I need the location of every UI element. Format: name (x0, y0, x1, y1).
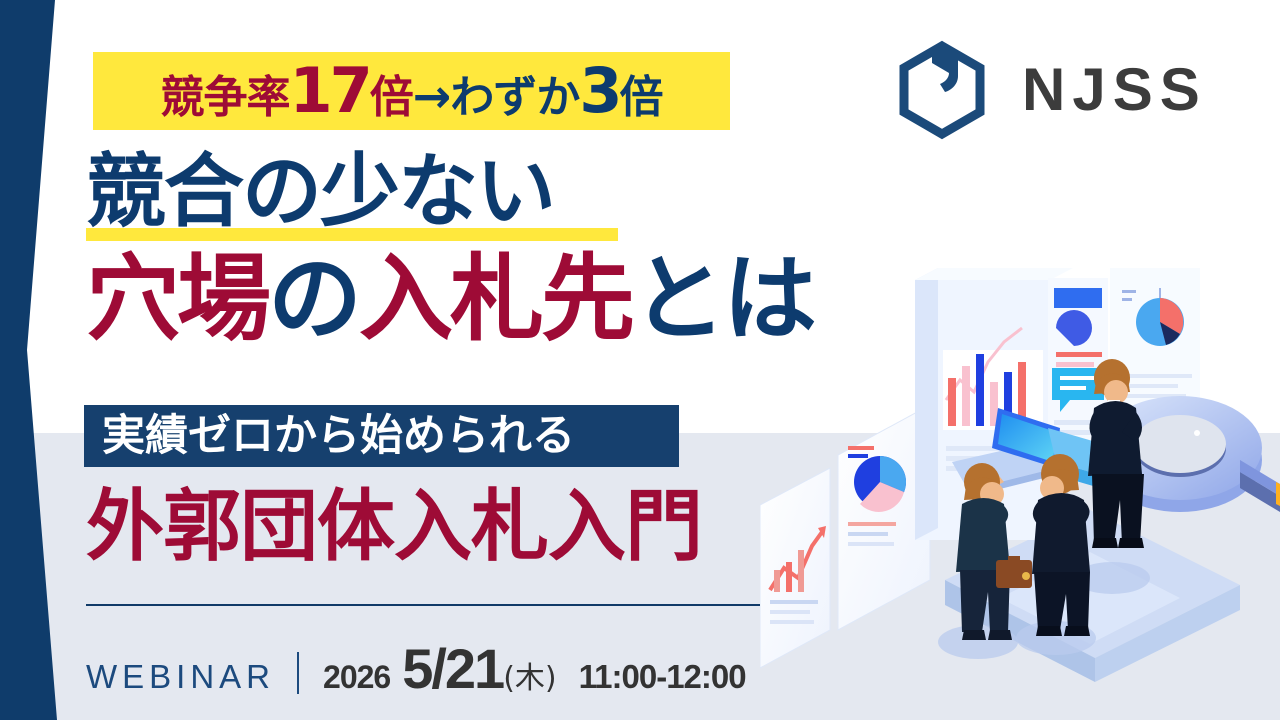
njss-logo-text: NJSS (1022, 60, 1207, 120)
footer-vertical-separator (297, 652, 299, 694)
headline-line-1: 競合の少ない (86, 152, 554, 232)
badge-text: 競争率17倍→わずか3倍 (161, 60, 663, 122)
footer-day-of-week: (木) (503, 653, 556, 697)
badge-middle: わずか (450, 72, 579, 123)
subtitle-red-text: 外郭団体入札入門 (86, 488, 702, 566)
njss-hexagon-icon (896, 40, 988, 140)
headline-line-2: 穴場の入札先とは (86, 253, 814, 347)
headline-yellow-underline (86, 228, 618, 241)
badge-lead: 競争率 (161, 72, 290, 123)
njss-logo: NJSS (896, 40, 1207, 140)
badge-unit-before: 倍 (370, 72, 413, 123)
headline-part-no: の (268, 245, 359, 354)
footer-time: 11:00-12:00 (579, 658, 746, 696)
footer-date: 5/21 (402, 636, 503, 701)
competition-rate-badge: 競争率17倍→わずか3倍 (93, 52, 730, 130)
badge-number-before: 17 (290, 54, 370, 127)
subtitle-band-text: 実績ゼロから始められる (84, 415, 575, 458)
headline-part-anaba: 穴場 (86, 245, 268, 354)
footer-divider (86, 604, 780, 606)
webinar-banner: 競争率17倍→わずか3倍 競合の少ない 穴場の入札先とは 実績ゼロから始められる… (0, 0, 1280, 720)
panel-line-chart-left (760, 468, 830, 668)
badge-number-after: 3 (579, 54, 619, 127)
footer-year: 2026 (323, 659, 390, 696)
arrow-right-icon: → (413, 69, 451, 123)
footer-info: WEBINAR 2026 5/21 (木) 11:00-12:00 (86, 636, 746, 701)
subtitle-navy-band: 実績ゼロから始められる (84, 405, 679, 467)
badge-unit-after: 倍 (619, 72, 662, 123)
webinar-label: WEBINAR (86, 658, 275, 696)
isometric-illustration (760, 250, 1280, 720)
headline-part-nyusatsusaki: 入札先 (359, 245, 632, 354)
